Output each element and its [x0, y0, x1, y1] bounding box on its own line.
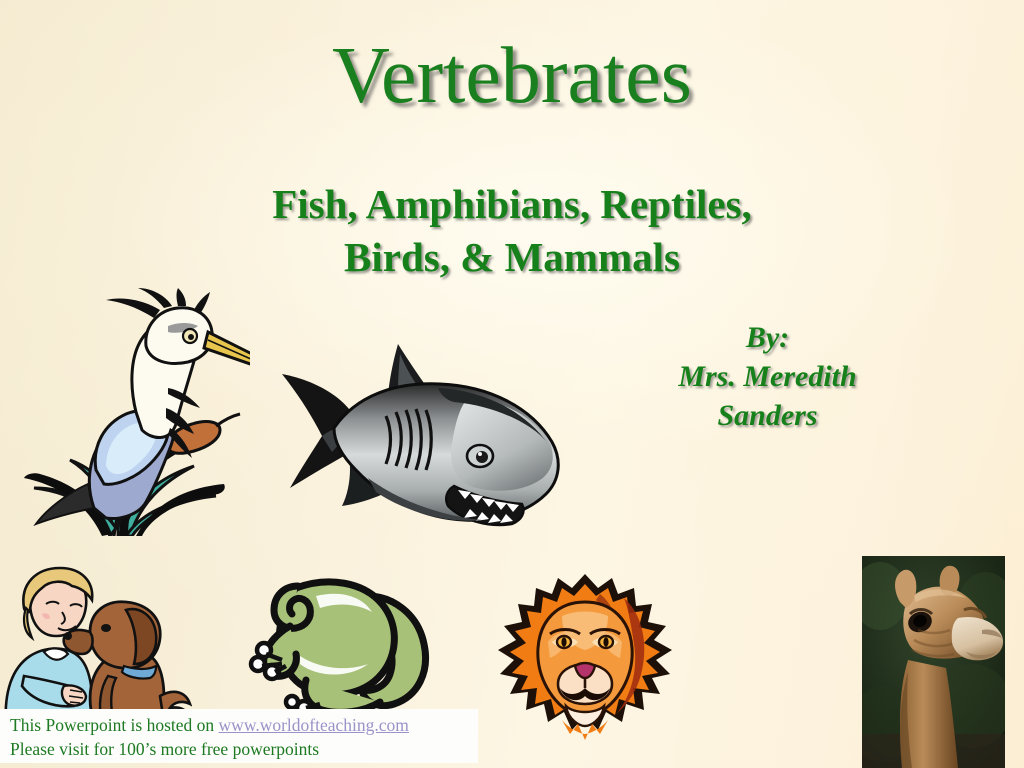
tree-frog-clipart [242, 560, 440, 720]
camel-photo [862, 556, 1005, 768]
byline-name-line-2: Sanders [620, 396, 915, 435]
heron-bird-clipart [18, 288, 250, 536]
credit-line-1: This Powerpoint is hosted on www.worldof… [10, 713, 478, 737]
worldofteaching-link[interactable]: www.worldofteaching.com [219, 715, 409, 735]
shark-eye [467, 445, 493, 467]
subtitle-line-2: Birds, & Mammals [344, 234, 680, 280]
girl-hugging-dog-clipart [0, 566, 192, 726]
hosting-credit-box: This Powerpoint is hosted on www.worldof… [0, 709, 478, 763]
lion-head-clipart [492, 572, 678, 750]
credit-line-2: Please visit for 100’s more free powerpo… [10, 737, 478, 761]
dog-nose [64, 632, 72, 640]
author-byline: By: Mrs. Meredith Sanders [620, 318, 915, 435]
dog-eye [101, 624, 111, 632]
page-title: Vertebrates [0, 36, 1024, 116]
subtitle-line-1: Fish, Amphibians, Reptiles, [272, 181, 752, 227]
shark-clipart [272, 332, 568, 538]
presentation-slide: Vertebrates Fish, Amphibians, Reptiles, … [0, 0, 1024, 768]
byline-prefix: By: [620, 318, 915, 357]
credit-prefix: This Powerpoint is hosted on [10, 715, 219, 735]
byline-name-line-1: Mrs. Meredith [620, 357, 915, 396]
slide-subtitle: Fish, Amphibians, Reptiles, Birds, & Mam… [150, 178, 874, 285]
